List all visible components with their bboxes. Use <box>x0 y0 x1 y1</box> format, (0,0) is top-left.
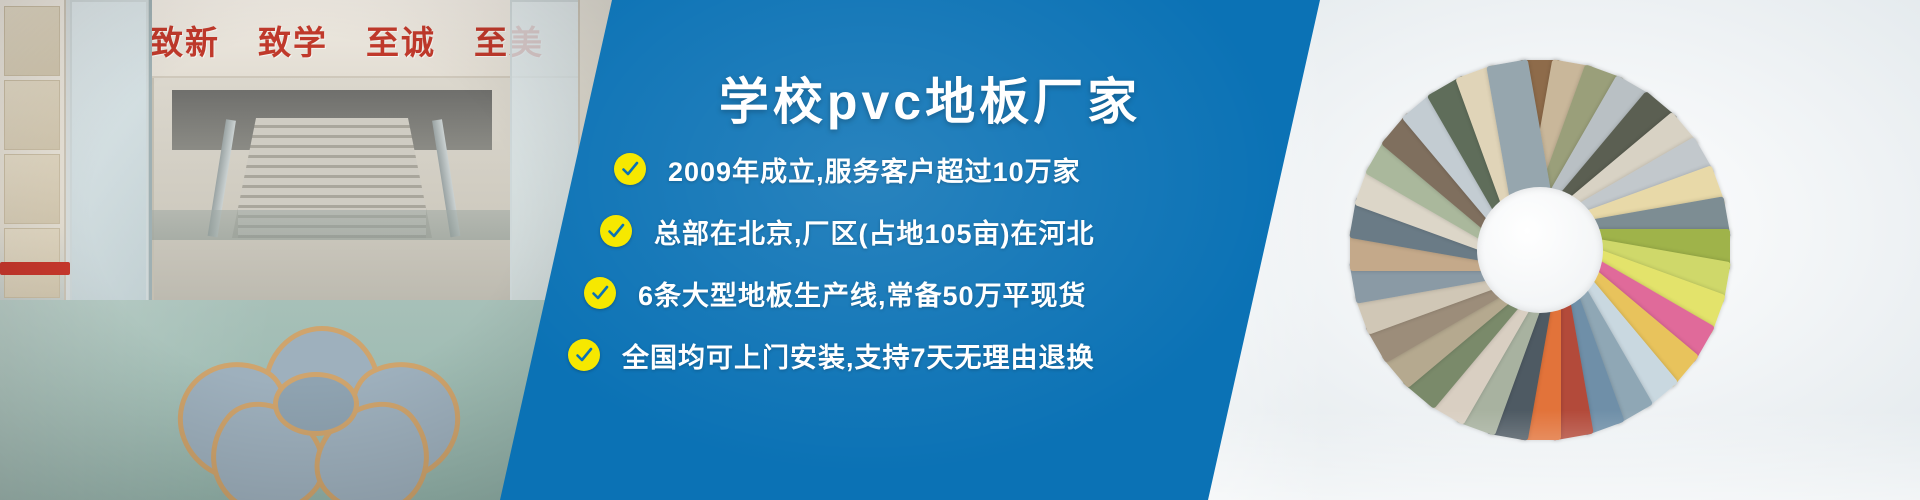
list-item: 2009年成立,服务客户超过10万家 <box>614 142 1240 196</box>
list-item-label: 总部在北京,厂区(占地105亩)在河北 <box>654 212 1095 251</box>
check-circle-icon <box>568 339 600 371</box>
check-circle-icon <box>600 215 632 247</box>
color-sample-fan <box>1280 0 1800 500</box>
corridor-dado <box>152 210 512 240</box>
list-item-label: 6条大型地板生产线,常备50万平现货 <box>638 274 1087 313</box>
blue-message-panel: 学校pvc地板厂家 2009年成立,服务客户超过10万家 总部在北京,厂区(占地… <box>500 0 1320 500</box>
wall-slogan-word-2: 致学 <box>258 16 328 64</box>
list-item: 全国均可上门安装,支持7天无理由退换 <box>568 328 1240 382</box>
list-item: 6条大型地板生产线,常备50万平现货 <box>584 266 1240 320</box>
list-item: 总部在北京,厂区(占地105亩)在河北 <box>600 204 1240 258</box>
wall-slogan-word-1: 致新 <box>150 16 220 64</box>
door-red-stripe-1 <box>0 262 70 275</box>
headline: 学校pvc地板厂家 <box>650 62 1210 134</box>
floor-flower-inlay <box>155 330 475 480</box>
check-circle-icon <box>584 277 616 309</box>
selling-points-list: 2009年成立,服务客户超过10万家 总部在北京,厂区(占地105亩)在河北 6… <box>600 142 1240 390</box>
list-item-label: 全国均可上门安装,支持7天无理由退换 <box>622 336 1095 375</box>
promo-banner: 致新 致学 至诚 至美 学校pvc <box>0 0 1920 500</box>
list-item-label: 2009年成立,服务客户超过10万家 <box>668 150 1081 189</box>
fan-hub <box>1477 187 1603 313</box>
wall-slogan-word-3: 至诚 <box>366 16 436 64</box>
check-circle-icon <box>614 153 646 185</box>
